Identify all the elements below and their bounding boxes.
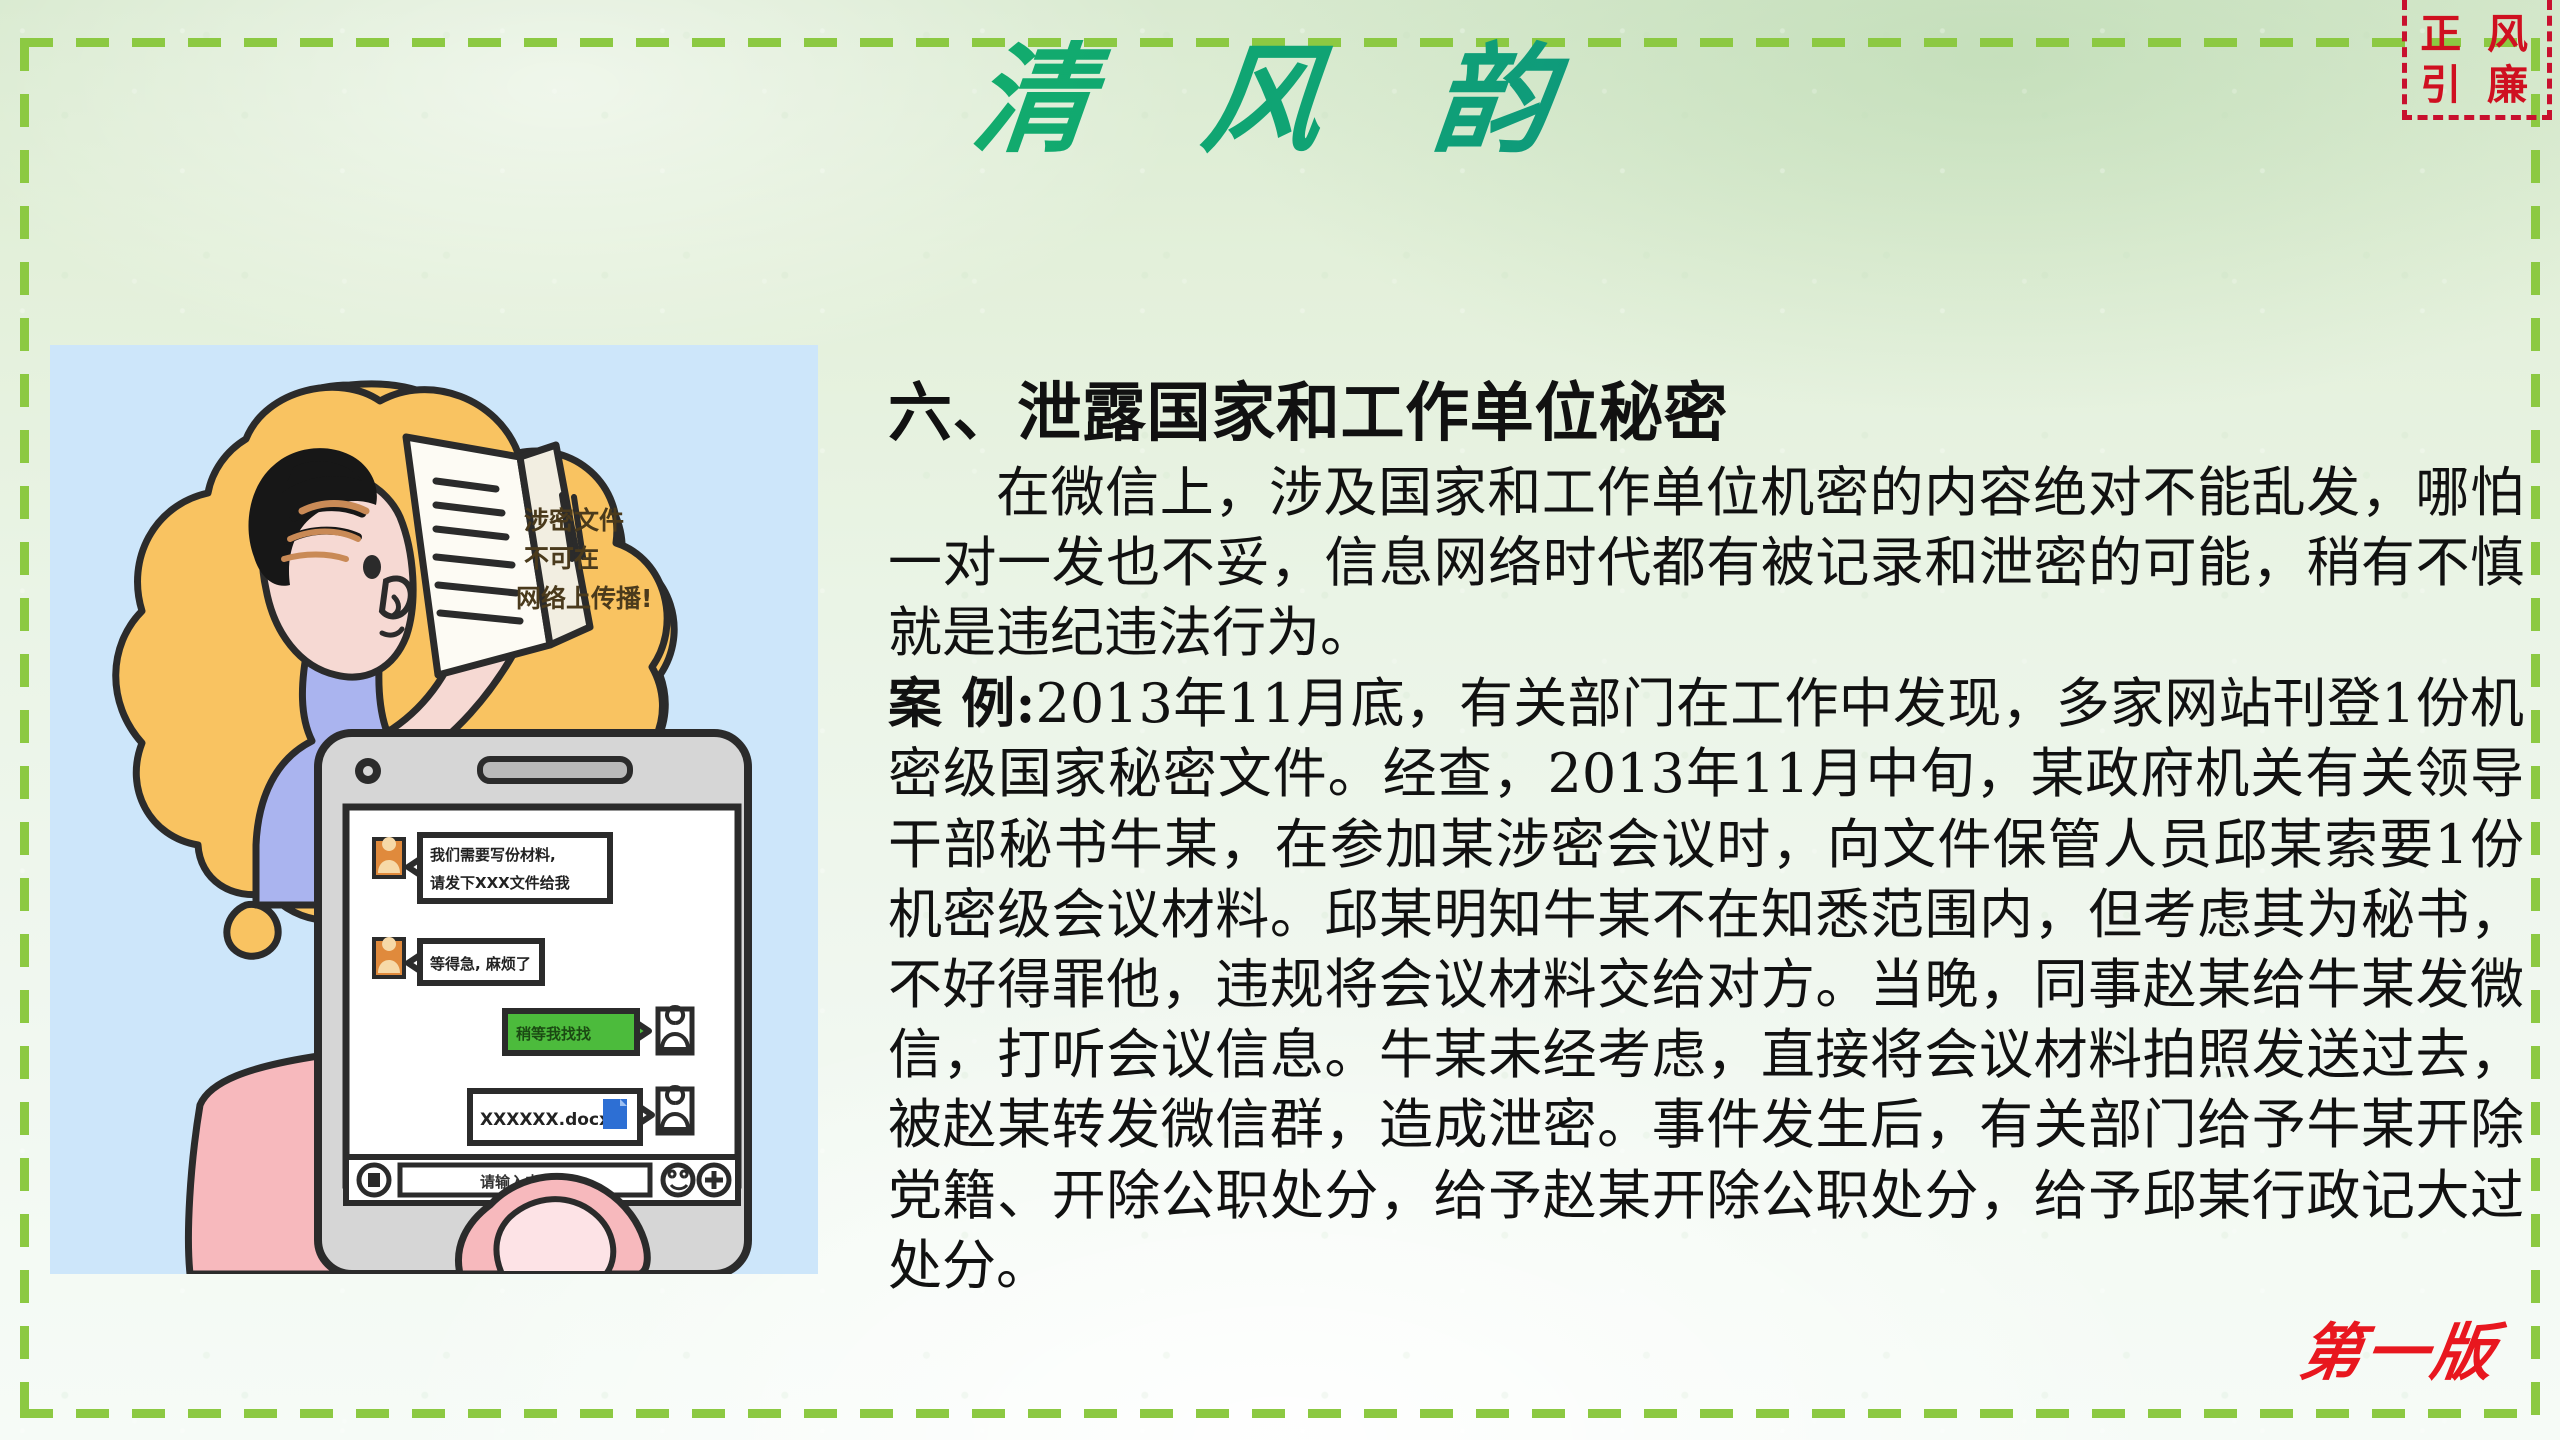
- seal-line-2: 引 廉: [2420, 60, 2534, 110]
- svg-text:请发下XXX文件给我: 请发下XXX文件给我: [430, 874, 570, 892]
- masthead-title: 清 风 韵: [0, 36, 2560, 163]
- thought-line-3: 网络上传播!: [516, 584, 652, 613]
- article-column: 六、泄露国家和工作单位秘密 在微信上，涉及国家和工作单位机密的内容绝对不能乱发，…: [888, 378, 2524, 1301]
- case-label: 案 例:: [888, 671, 1035, 735]
- svg-text:我们需要写份材料,: 我们需要写份材料,: [430, 846, 556, 864]
- svg-text:稍等我找找: 稍等我找找: [516, 1025, 591, 1043]
- article-case-paragraph: 案 例:2013年11月底，有关部门在工作中发现，多家网站刊登1份机密级国家秘密…: [888, 668, 2524, 1301]
- svg-text:等得急, 麻烦了: 等得急, 麻烦了: [430, 955, 531, 973]
- illustration-panel: 涉密文件 不可在 网络上传播!: [50, 345, 818, 1274]
- article-paragraph-1: 在微信上，涉及国家和工作单位机密的内容绝对不能乱发，哪怕一对一发也不妥，信息网络…: [888, 458, 2524, 669]
- chat-message-left-2: 等得急, 麻烦了: [374, 937, 542, 983]
- frame-border-right: [2531, 38, 2540, 1418]
- frame-border-left: [20, 38, 29, 1418]
- edition-label: 第一版: [2295, 1302, 2505, 1392]
- frame-border-bottom: [20, 1409, 2540, 1418]
- seal-line-1: 正 风: [2420, 9, 2534, 59]
- newsletter-page: 清 风 韵 正 风 引 廉: [0, 0, 2560, 1440]
- wechat-leak-cartoon-svg: 涉密文件 不可在 网络上传播!: [50, 345, 818, 1274]
- case-text: 2013年11月底，有关部门在工作中发现，多家网站刊登1份机密级国家秘密文件。经…: [888, 672, 2524, 1297]
- article-heading: 六、泄露国家和工作单位秘密: [888, 378, 2524, 450]
- thought-line-1: 涉密文件: [524, 506, 624, 535]
- thought-line-2: 不可在: [524, 544, 599, 573]
- seal-badge: 正 风 引 廉: [2402, 0, 2552, 120]
- chat-message-right-1: 稍等我找找: [505, 1007, 692, 1053]
- chat-message-file: XXXXXX.docx: [470, 1087, 692, 1143]
- svg-text:XXXXXX.docx: XXXXXX.docx: [480, 1110, 610, 1130]
